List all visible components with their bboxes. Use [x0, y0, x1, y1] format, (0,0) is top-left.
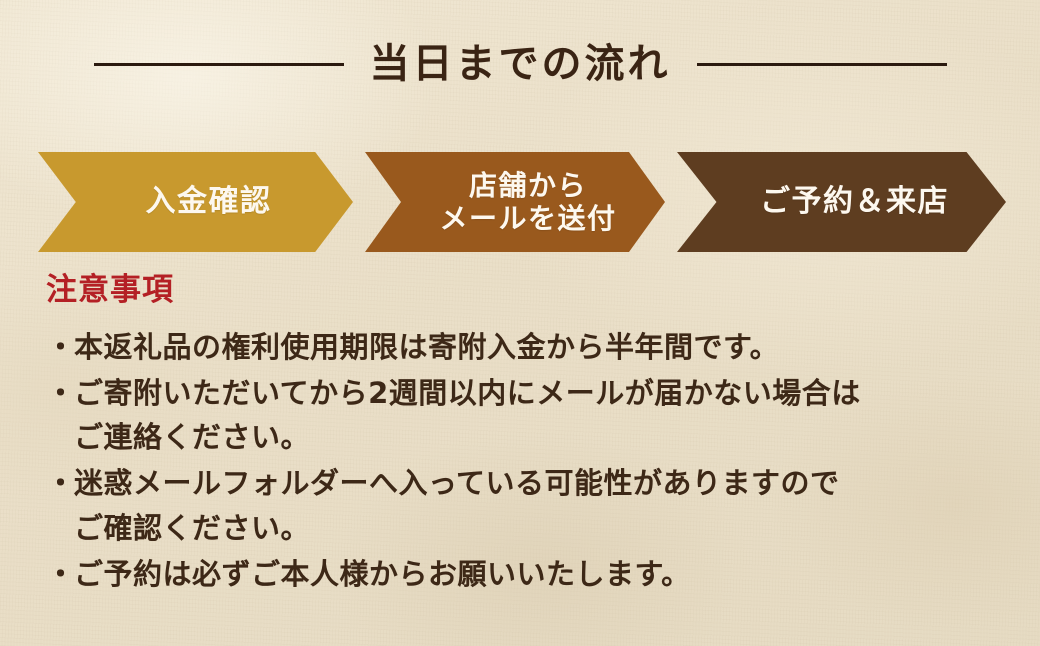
step-label: ご予約＆来店: [734, 184, 949, 219]
notice-list: ・ 本返礼品の権利使用期限は寄附入金から半年間です。 ・ ご寄附いただいてから2…: [46, 325, 1006, 595]
title-rule-right: [697, 63, 947, 66]
bullet-marker: ・: [46, 552, 74, 596]
step-label: 入金確認: [120, 184, 272, 219]
page-title-row: 当日までの流れ: [0, 44, 1040, 84]
list-item: ・ 迷惑メールフォルダーへ入っている可能性がありますので ご確認ください。: [46, 461, 1006, 549]
step-chevron-store-email: 店舗から メールを送付: [365, 152, 665, 252]
bullet-marker: ・: [46, 461, 74, 505]
list-item-text: 本返礼品の権利使用期限は寄附入金から半年間です。: [74, 325, 1006, 369]
poster-canvas: 当日までの流れ 入金確認 店舗から メールを送付 ご予約＆来店 注意事項 ・ 本…: [0, 0, 1040, 646]
bullet-marker: ・: [46, 325, 74, 369]
list-item-text: 迷惑メールフォルダーへ入っている可能性がありますので ご確認ください。: [74, 461, 1006, 549]
list-item-text: ご寄附いただいてから2週間以内にメールが届かない場合は ご連絡ください。: [74, 371, 1006, 459]
page-title: 当日までの流れ: [370, 44, 671, 84]
list-item: ・ ご予約は必ずご本人様からお願いいたします。: [46, 552, 1006, 596]
notice-heading: 注意事項: [46, 272, 1006, 309]
step-label: 店舗から メールを送付: [413, 169, 616, 235]
step-flow: 入金確認 店舗から メールを送付 ご予約＆来店: [38, 152, 1006, 252]
step-chevron-reservation-visit: ご予約＆来店: [677, 152, 1006, 252]
notice-section: 注意事項 ・ 本返礼品の権利使用期限は寄附入金から半年間です。 ・ ご寄附いただ…: [46, 272, 1006, 598]
list-item: ・ ご寄附いただいてから2週間以内にメールが届かない場合は ご連絡ください。: [46, 371, 1006, 459]
step-chevron-payment-confirmation: 入金確認: [38, 152, 353, 252]
list-item-text: ご予約は必ずご本人様からお願いいたします。: [74, 552, 1006, 596]
bullet-marker: ・: [46, 371, 74, 415]
title-rule-left: [94, 63, 344, 66]
list-item: ・ 本返礼品の権利使用期限は寄附入金から半年間です。: [46, 325, 1006, 369]
